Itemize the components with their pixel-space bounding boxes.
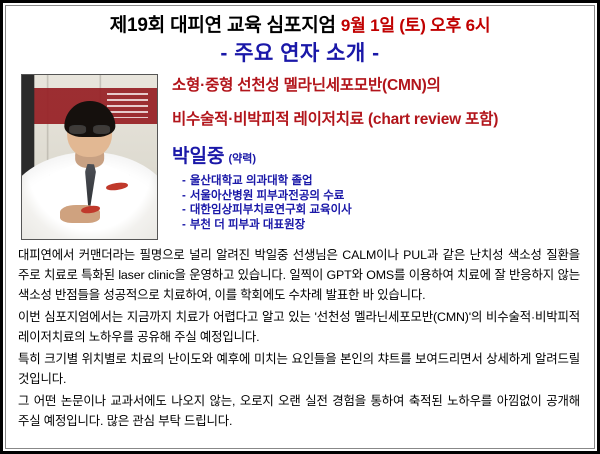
symposium-title: 제19회 대피연 교육 심포지엄 [110, 15, 336, 36]
lecture-title-line2: 비수술적·비박피적 레이저치료 (chart review 포함) [172, 103, 586, 137]
poster-header: 제19회 대피연 교육 심포지엄 9월 1일 (토) 오후 6시 - 주요 연자… [6, 6, 594, 69]
poster-container: 제19회 대피연 교육 심포지엄 9월 1일 (토) 오후 6시 - 주요 연자… [0, 0, 600, 454]
speaker-photo-image [22, 75, 157, 239]
bullet-dash-icon: - [182, 219, 186, 231]
paragraph: 특히 크기별 위치별로 치료의 난이도와 예후에 미치는 요인들을 본인의 챠트… [18, 349, 580, 389]
bullet-dash-icon: - [182, 204, 186, 216]
bullet-dash-icon: - [182, 190, 186, 202]
wall-poster-decor [107, 93, 148, 118]
list-item: -서울아산병원 피부과전공의 수료 [182, 189, 586, 204]
credential-text: 울산대학교 의과대학 졸업 [190, 175, 313, 187]
speaker-section: 소형·중형 선천성 멜라닌세포모반(CMN)의 비수술적·비박피적 레이저치료 … [6, 69, 594, 241]
poster-inner-frame: 제19회 대피연 교육 심포지엄 9월 1일 (토) 오후 6시 - 주요 연자… [5, 5, 595, 449]
credential-text: 부천 더 피부과 대표원장 [190, 219, 305, 231]
speaker-credentials: -울산대학교 의과대학 졸업 -서울아산병원 피부과전공의 수료 -대한임상피부… [182, 174, 586, 232]
speaker-info: 소형·중형 선천성 멜라닌세포모반(CMN)의 비수술적·비박피적 레이저치료 … [172, 69, 586, 232]
credential-text: 서울아산병원 피부과전공의 수료 [190, 190, 345, 202]
lecture-title-line1: 소형·중형 선천성 멜라닌세포모반(CMN)의 [172, 69, 586, 103]
speaker-brief-label: (약력) [228, 153, 256, 165]
credential-text: 대한임상피부치료연구회 교육이사 [190, 204, 352, 216]
description-body: 대피연에서 커맨더라는 필명으로 널리 알려진 박일중 선생님은 CALM이나 … [6, 241, 594, 431]
list-item: -부천 더 피부과 대표원장 [182, 218, 586, 233]
list-item: -대한임상피부치료연구회 교육이사 [182, 203, 586, 218]
paragraph: 이번 심포지엄에서는 지금까지 치료가 어렵다고 알고 있는 '선천성 멜라닌세… [18, 307, 580, 347]
symposium-date: 9월 1일 (토) 오후 6시 [341, 16, 490, 35]
speaker-photo [21, 74, 158, 240]
glasses-icon [69, 125, 111, 134]
header-subtitle: - 주요 연자 소개 - [6, 39, 594, 69]
speaker-name: 박일중 [172, 146, 224, 167]
list-item: -울산대학교 의과대학 졸업 [182, 174, 586, 189]
paragraph: 그 어떤 논문이나 교과서에도 나오지 않는, 오로지 오랜 실전 경험을 통하… [18, 391, 580, 431]
header-title-line: 제19회 대피연 교육 심포지엄 9월 1일 (토) 오후 6시 [6, 13, 594, 39]
bullet-dash-icon: - [182, 175, 186, 187]
speaker-name-row: 박일중(약력) [172, 145, 586, 171]
paragraph: 대피연에서 커맨더라는 필명으로 널리 알려진 박일중 선생님은 CALM이나 … [18, 245, 580, 305]
